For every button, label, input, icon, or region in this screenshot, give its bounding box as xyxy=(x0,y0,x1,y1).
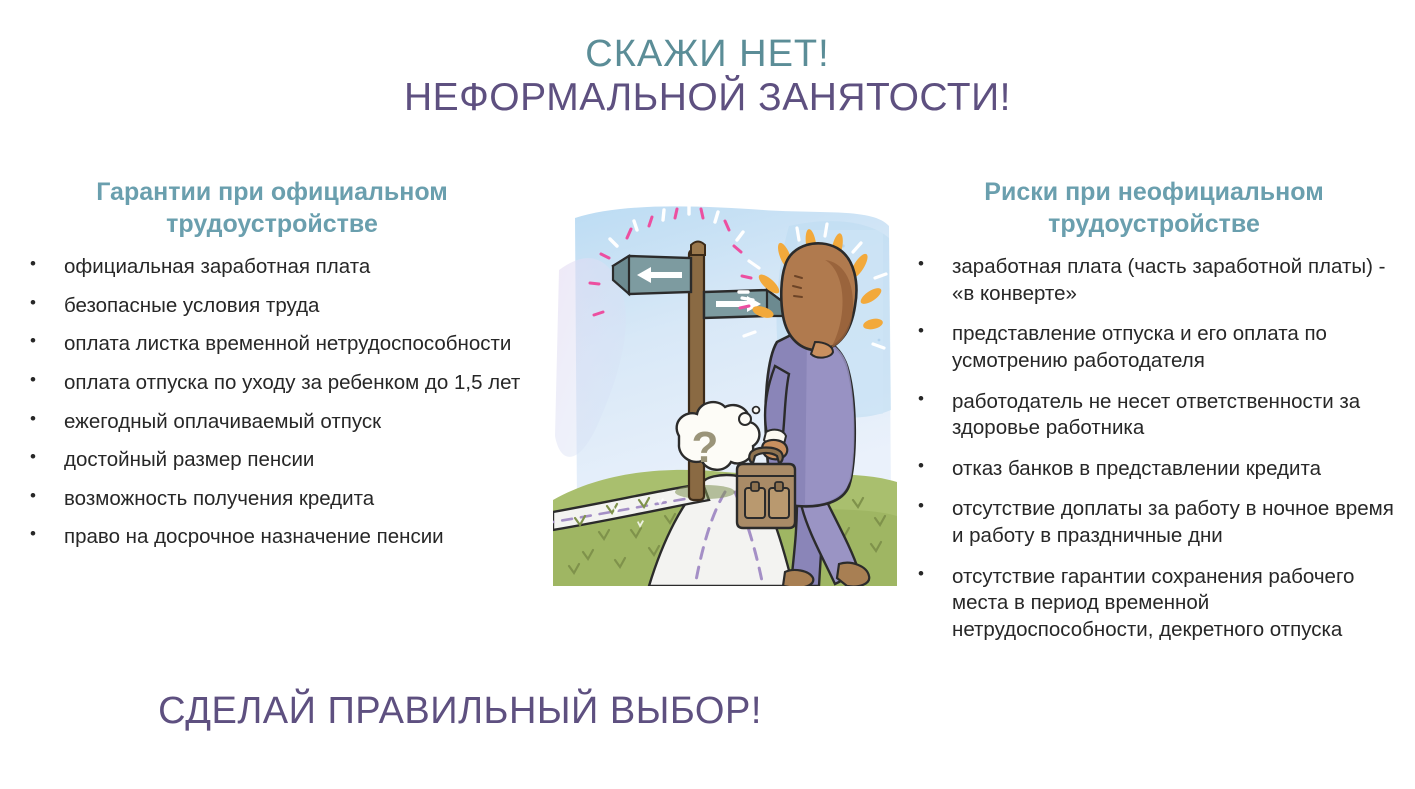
page-title: СКАЖИ НЕТ! НЕФОРМАЛЬНОЙ ЗАНЯТОСТИ! xyxy=(0,34,1415,119)
illustration-svg: ? xyxy=(553,200,897,586)
list-item: отсутствие гарантии сохранения рабочего … xyxy=(898,564,1410,644)
list-item: работодатель не несет ответственности за… xyxy=(898,389,1410,442)
guarantees-column: Гарантии при официальном трудоустройстве… xyxy=(8,176,536,563)
signpost-cap xyxy=(691,242,705,256)
list-item: достойный размер пенсии xyxy=(8,447,536,474)
list-item: безопасные условия труда xyxy=(8,293,536,320)
briefcase-buckle-right xyxy=(775,482,783,491)
list-item: заработная плата (часть заработной платы… xyxy=(898,254,1410,307)
risks-heading: Риски при неофициальном трудоустройстве xyxy=(898,176,1410,240)
list-item: право на досрочное назначение пенсии xyxy=(8,524,536,551)
list-item: официальная заработная плата xyxy=(8,254,536,281)
list-item: оплата отпуска по уходу за ребенком до 1… xyxy=(8,370,536,397)
briefcase-buckle-left xyxy=(751,482,759,491)
briefcase-pocket-right xyxy=(769,488,789,518)
list-item: ежегодный оплачиваемый отпуск xyxy=(8,409,536,436)
risks-list: заработная плата (часть заработной платы… xyxy=(898,254,1410,644)
title-line-2: НЕФОРМАЛЬНОЙ ЗАНЯТОСТИ! xyxy=(0,77,1415,119)
guarantees-heading: Гарантии при официальном трудоустройстве xyxy=(8,176,536,240)
risks-column: Риски при неофициальном трудоустройстве … xyxy=(898,176,1410,658)
list-item: представление отпуска и его оплата по ус… xyxy=(898,321,1410,374)
thought-dot-large xyxy=(739,413,751,425)
sign-left xyxy=(613,256,691,294)
list-item: отказ банков в представлении кредита xyxy=(898,456,1410,483)
list-item: отсутствие доплаты за работу в ночное вр… xyxy=(898,496,1410,549)
thought-dot-small xyxy=(753,407,760,414)
illustration-crossroads: ? xyxy=(553,200,897,586)
list-item: возможность получения кредита xyxy=(8,486,536,513)
person-shoe-back xyxy=(783,570,813,586)
title-line-1: СКАЖИ НЕТ! xyxy=(0,34,1415,75)
slogan-text: СДЕЛАЙ ПРАВИЛЬНЫЙ ВЫБОР! xyxy=(100,690,820,733)
guarantees-list: официальная заработная плата безопасные … xyxy=(8,254,536,551)
briefcase-pocket-left xyxy=(745,488,765,518)
question-mark-icon: ? xyxy=(692,423,719,472)
list-item: оплата листка временной нетрудоспособнос… xyxy=(8,331,536,358)
